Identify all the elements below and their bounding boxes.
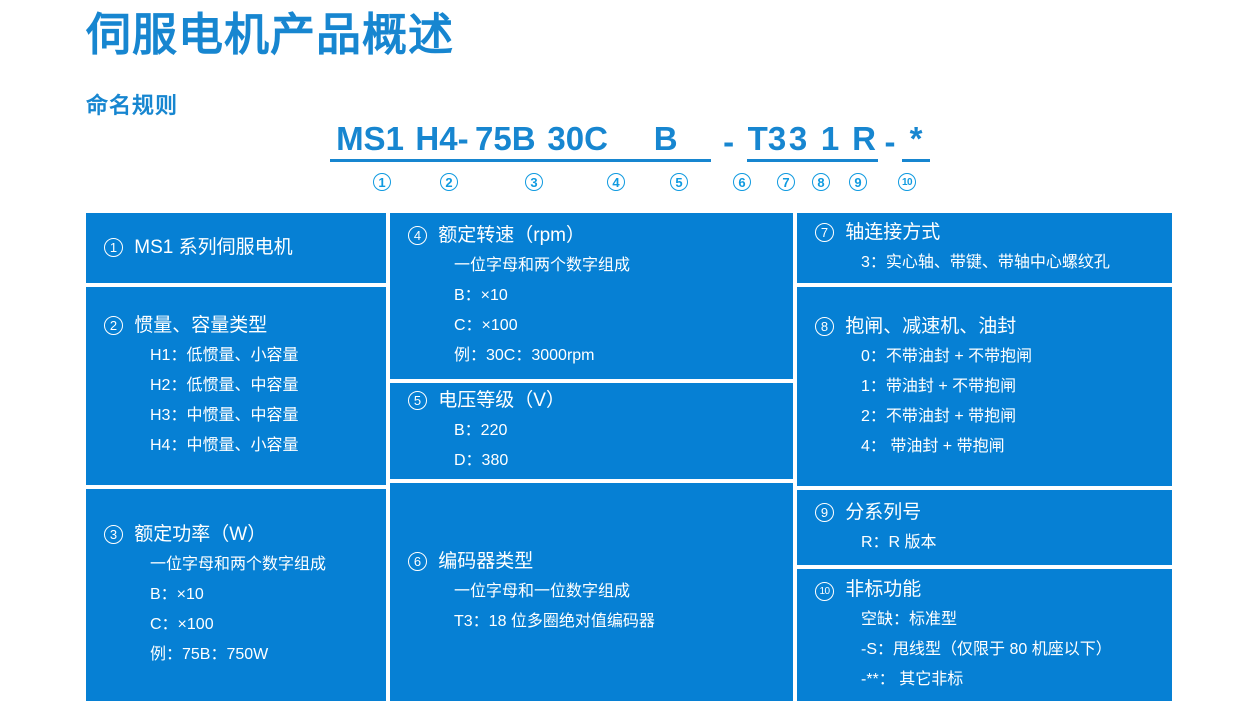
table-cell-line: D：380: [454, 446, 775, 476]
table-cell-5: 5 电压等级（V）B：220D：380: [390, 383, 793, 479]
table-cell-heading-text: 额定功率（W）: [129, 524, 266, 545]
model-code-segment: T3: [747, 119, 786, 162]
table-column-2: 4 额定转速（rpm）一位字母和两个数字组成B：×10C：×100例：30C：3…: [390, 213, 793, 701]
index-circle-3: 3: [104, 525, 123, 544]
table-cell-heading: 8 抱闸、减速机、油封: [815, 312, 1154, 342]
table-cell-heading: 4 额定转速（rpm）: [408, 221, 775, 251]
table-cell-6: 6 编码器类型一位字母和一位数字组成T3：18 位多圈绝对值编码器: [390, 483, 793, 701]
table-cell-1: 1 MS1 系列伺服电机: [86, 213, 386, 283]
table-cell-line: H4：中惯量、小容量: [150, 431, 368, 461]
table-cell-content: 1 MS1 系列伺服电机: [86, 233, 386, 263]
table-cell-line: 例：30C：3000rpm: [454, 341, 775, 371]
table-cell-heading: 3 额定功率（W）: [104, 520, 368, 550]
table-cell-heading-text: 额定转速（rpm）: [433, 225, 585, 246]
table-cell-line: 4： 带油封 + 带抱闸: [861, 432, 1154, 462]
table-cell-line: 0：不带油封 + 不带抱闸: [861, 342, 1154, 372]
table-cell-content: 3 额定功率（W）一位字母和两个数字组成B：×10C：×100例：75B：750…: [86, 520, 386, 670]
naming-rule-table: 1 MS1 系列伺服电机2 惯量、容量类型H1：低惯量、小容量H2：低惯量、中容…: [86, 213, 1172, 701]
table-cell-line: 2：不带油封 + 带抱闸: [861, 402, 1154, 432]
table-cell-content: 6 编码器类型一位字母和一位数字组成T3：18 位多圈绝对值编码器: [390, 547, 793, 637]
model-code-segment: *: [902, 119, 930, 162]
index-circle-2: 2: [104, 316, 123, 335]
table-cell-7: 7 轴连接方式3：实心轴、带键、带轴中心螺纹孔: [797, 213, 1172, 283]
table-cell-line: H3：中惯量、中容量: [150, 401, 368, 431]
table-cell-content: 10 非标功能空缺：标准型-S：甩线型（仅限于 80 机座以下）-**： 其它非…: [797, 575, 1172, 695]
table-cell-heading-text: MS1 系列伺服电机: [129, 237, 293, 258]
table-cell-content: 7 轴连接方式3：实心轴、带键、带轴中心螺纹孔: [797, 218, 1172, 278]
index-circle-5: 5: [408, 391, 427, 410]
table-cell-heading-text: 电压等级（V）: [433, 390, 565, 411]
table-cell-heading-text: 惯量、容量类型: [129, 315, 267, 336]
table-cell-8: 8 抱闸、减速机、油封0：不带油封 + 不带抱闸1：带油封 + 不带抱闸2：不带…: [797, 287, 1172, 486]
index-circle-4: 4: [408, 226, 427, 245]
table-cell-line: R：R 版本: [861, 528, 1154, 558]
table-cell-4: 4 额定转速（rpm）一位字母和两个数字组成B：×10C：×100例：30C：3…: [390, 213, 793, 379]
model-code-segment: R: [850, 119, 878, 162]
table-cell-heading-text: 分系列号: [840, 502, 921, 523]
table-cell-heading: 1 MS1 系列伺服电机: [104, 233, 368, 263]
index-circle-7: 7: [815, 223, 834, 242]
table-cell-content: 2 惯量、容量类型H1：低惯量、小容量H2：低惯量、中容量H3：中惯量、中容量H…: [86, 311, 386, 461]
table-cell-heading-text: 抱闸、减速机、油封: [840, 316, 1016, 337]
table-cell-line: -S：甩线型（仅限于 80 机座以下）: [861, 635, 1154, 665]
table-cell-3: 3 额定功率（W）一位字母和两个数字组成B：×10C：×100例：75B：750…: [86, 489, 386, 701]
table-cell-line: 一位字母和两个数字组成: [150, 550, 368, 580]
table-cell-line: C：×100: [454, 311, 775, 341]
table-cell-line: 1：带油封 + 不带抱闸: [861, 372, 1154, 402]
table-cell-line: B：220: [454, 416, 775, 446]
section-title-naming-rule: 命名规则: [86, 88, 178, 120]
model-code-segment: 1: [810, 119, 850, 162]
model-code-segment: 75B: [474, 119, 535, 162]
model-code-segment: H4-: [410, 119, 474, 162]
table-cell-2: 2 惯量、容量类型H1：低惯量、小容量H2：低惯量、中容量H3：中惯量、中容量H…: [86, 287, 386, 485]
model-code-index-6: 6: [733, 173, 751, 191]
model-code-segment: 3: [786, 119, 810, 162]
model-code-index-5: 5: [670, 173, 688, 191]
model-code-index-4: 4: [607, 173, 625, 191]
table-cell-content: 4 额定转速（rpm）一位字母和两个数字组成B：×10C：×100例：30C：3…: [390, 221, 793, 371]
table-column-1: 1 MS1 系列伺服电机2 惯量、容量类型H1：低惯量、小容量H2：低惯量、中容…: [86, 213, 386, 701]
table-cell-line: H1：低惯量、小容量: [150, 341, 368, 371]
table-cell-line: 空缺：标准型: [861, 605, 1154, 635]
table-cell-line: -**： 其它非标: [861, 665, 1154, 695]
table-cell-10: 10 非标功能空缺：标准型-S：甩线型（仅限于 80 机座以下）-**： 其它非…: [797, 569, 1172, 701]
table-cell-heading: 6 编码器类型: [408, 547, 775, 577]
table-cell-line: C：×100: [150, 610, 368, 640]
table-cell-content: 9 分系列号R：R 版本: [797, 498, 1172, 558]
model-code-diagram: MS1H4-75B30CB-T331R-* 12345678910: [330, 118, 930, 196]
table-cell-line: 一位字母和两个数字组成: [454, 251, 775, 281]
model-code-index-8: 8: [812, 173, 830, 191]
model-code-index-3: 3: [525, 173, 543, 191]
table-cell-line: B：×10: [454, 281, 775, 311]
table-cell-heading-text: 轴连接方式: [840, 222, 940, 243]
table-cell-heading-text: 编码器类型: [433, 551, 533, 572]
table-cell-line: 例：75B：750W: [150, 640, 368, 670]
index-circle-10: 10: [815, 582, 834, 601]
table-cell-heading: 2 惯量、容量类型: [104, 311, 368, 341]
index-circle-9: 9: [815, 503, 834, 522]
table-cell-heading: 9 分系列号: [815, 498, 1154, 528]
table-cell-9: 9 分系列号R：R 版本: [797, 490, 1172, 565]
model-code-index-7: 7: [777, 173, 795, 191]
model-code-segment: -: [878, 122, 902, 162]
table-cell-heading-text: 非标功能: [840, 579, 921, 600]
model-code-segment: B: [621, 119, 711, 162]
model-code-string: MS1H4-75B30CB-T331R-*: [330, 118, 930, 162]
model-code-segment: -: [711, 122, 747, 162]
table-cell-line: T3：18 位多圈绝对值编码器: [454, 607, 775, 637]
model-code-segment: 30C: [535, 119, 621, 162]
model-code-segment: MS1: [330, 119, 410, 162]
index-circle-1: 1: [104, 238, 123, 257]
table-cell-line: H2：低惯量、中容量: [150, 371, 368, 401]
table-cell-heading: 5 电压等级（V）: [408, 386, 775, 416]
model-code-index-9: 9: [849, 173, 867, 191]
index-circle-8: 8: [815, 317, 834, 336]
page-title: 伺服电机产品概述: [86, 9, 454, 61]
table-cell-content: 8 抱闸、减速机、油封0：不带油封 + 不带抱闸1：带油封 + 不带抱闸2：不带…: [797, 312, 1172, 462]
index-circle-6: 6: [408, 552, 427, 571]
table-cell-content: 5 电压等级（V）B：220D：380: [390, 386, 793, 476]
table-cell-line: 一位字母和一位数字组成: [454, 577, 775, 607]
model-code-index-10: 10: [898, 173, 916, 191]
table-cell-line: 3：实心轴、带键、带轴中心螺纹孔: [861, 248, 1154, 278]
page-root: 伺服电机产品概述 命名规则 MS1H4-75B30CB-T331R-* 1234…: [0, 0, 1258, 724]
model-code-index-1: 1: [373, 173, 391, 191]
table-cell-heading: 10 非标功能: [815, 575, 1154, 605]
model-code-index-2: 2: [440, 173, 458, 191]
table-cell-line: B：×10: [150, 580, 368, 610]
table-cell-heading: 7 轴连接方式: [815, 218, 1154, 248]
model-code-index-row: 12345678910: [330, 167, 930, 197]
table-column-3: 7 轴连接方式3：实心轴、带键、带轴中心螺纹孔8 抱闸、减速机、油封0：不带油封…: [797, 213, 1172, 701]
